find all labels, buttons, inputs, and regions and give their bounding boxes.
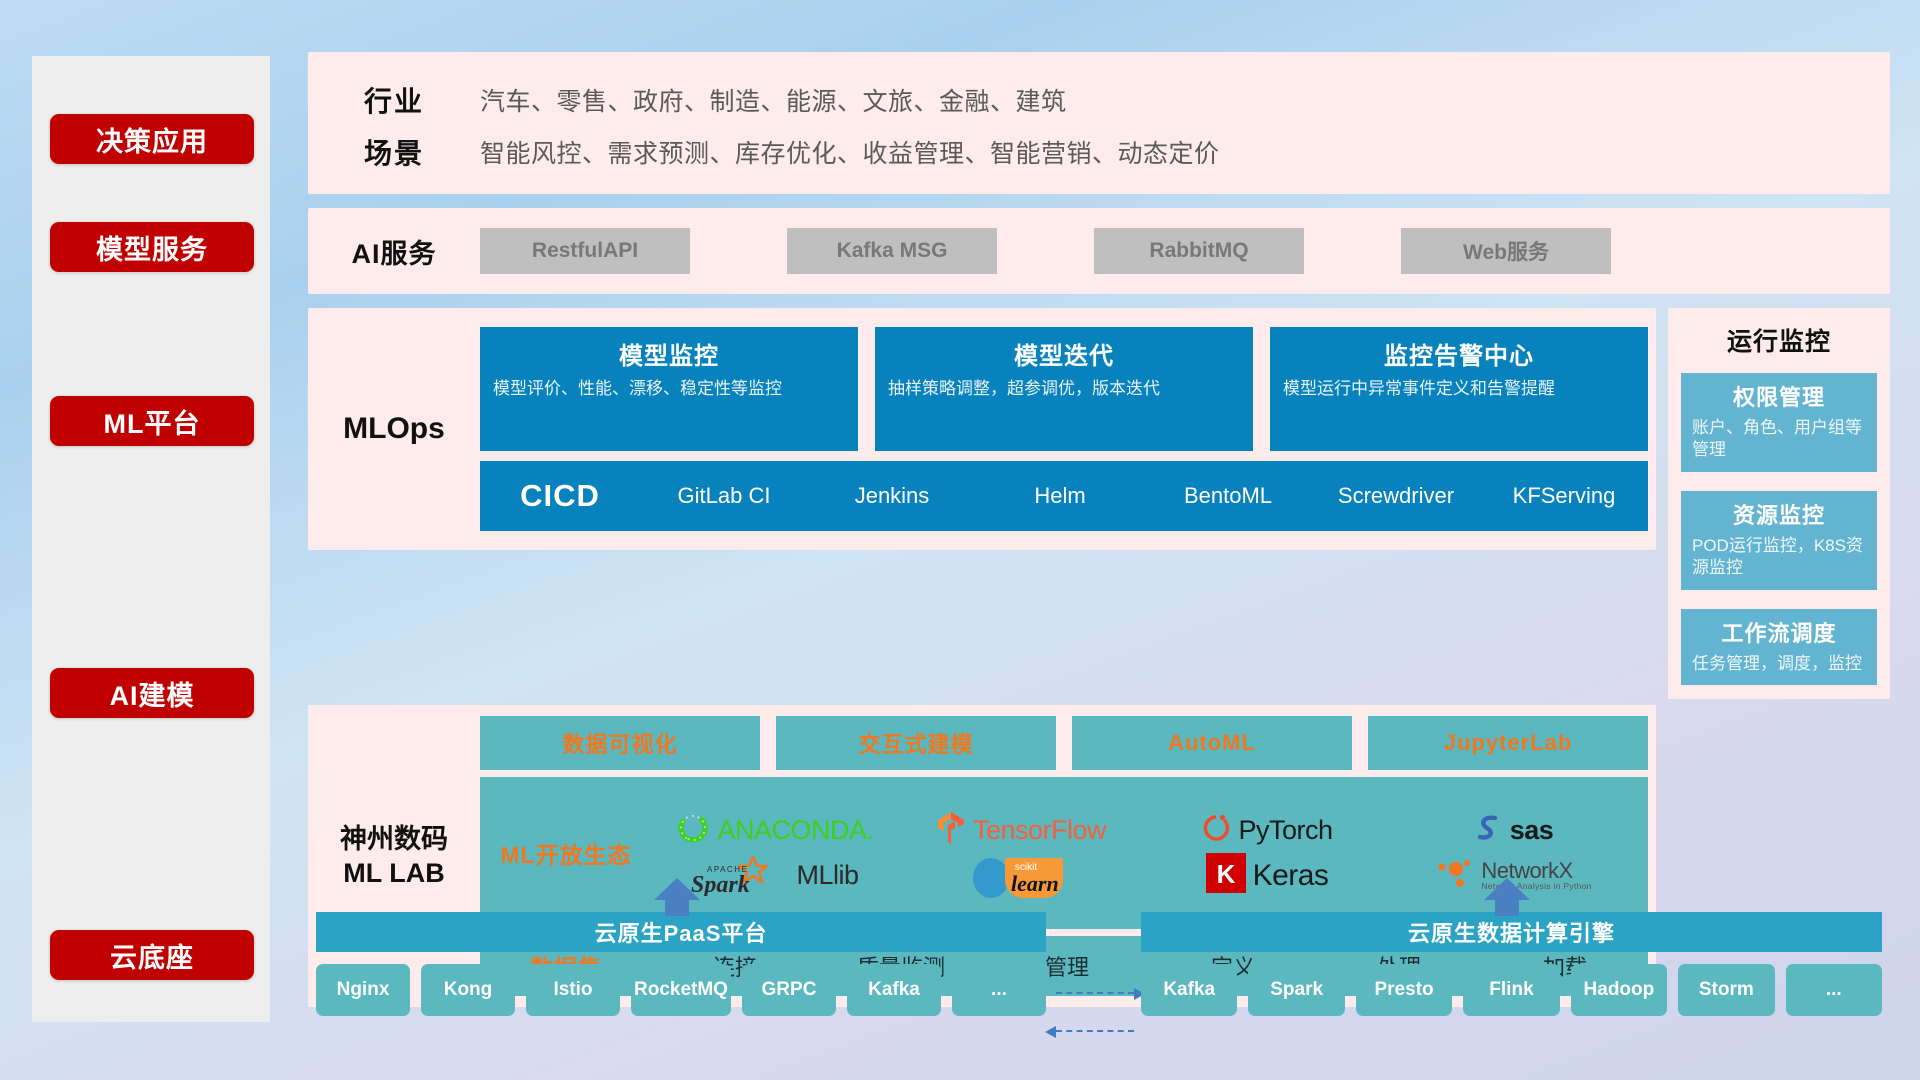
paas-chip-grpc[interactable]: GRPC	[742, 964, 836, 1016]
card-desc: 模型评价、性能、漂移、稳定性等监控	[493, 378, 845, 401]
card-desc: 账户、角色、用户组等管理	[1692, 417, 1866, 462]
ai-service-chip-web-service[interactable]: Web服务	[1401, 228, 1611, 274]
monitor-card-workflow[interactable]: 工作流调度 任务管理，调度，监控	[1681, 609, 1877, 685]
ml-lab-tab-jupyterlab[interactable]: JupyterLab	[1368, 716, 1648, 770]
runtime-monitoring-title: 运行监控	[1681, 322, 1877, 358]
ml-lab-tab-list: 数据可视化 交互式建模 AutoML JupyterLab	[480, 716, 1648, 770]
mlops-band: MLOps 模型监控 模型评价、性能、漂移、稳定性等监控 模型迭代 抽样策略调整…	[308, 308, 1656, 550]
industry-row: 行业 汽车、零售、政府、制造、能源、文旅、金融、建筑	[308, 74, 1890, 126]
card-desc: 模型运行中异常事件定义和告警提醒	[1283, 378, 1635, 401]
ai-service-chip-rabbitmq[interactable]: RabbitMQ	[1094, 228, 1304, 274]
logo-text: ANACONDA.	[717, 815, 873, 846]
ml-lab-tab-data-visualization[interactable]: 数据可视化	[480, 716, 760, 770]
logo-text: PyTorch	[1238, 815, 1332, 846]
cloud-native-paas-chip-list: Nginx Kong Istio RocketMQ GRPC Kafka ...	[316, 964, 1046, 1016]
mlops-content: 模型监控 模型评价、性能、漂移、稳定性等监控 模型迭代 抽样策略调整，超参调优，…	[480, 327, 1656, 531]
paas-chip-rocketmq[interactable]: RocketMQ	[631, 964, 731, 1016]
compute-chip-storm[interactable]: Storm	[1678, 964, 1774, 1016]
compute-chip-flink[interactable]: Flink	[1463, 964, 1559, 1016]
pytorch-icon	[1201, 811, 1231, 850]
mlops-card-alert-center[interactable]: 监控告警中心 模型运行中异常事件定义和告警提醒	[1270, 327, 1648, 451]
card-title: 资源监控	[1692, 498, 1866, 530]
logo-tensorflow[interactable]: TensorFlow	[936, 811, 1106, 850]
cicd-item-helm[interactable]: Helm	[976, 483, 1144, 508]
ai-service-label: AI服务	[308, 232, 480, 271]
ml-lab-label-line1: 神州数码	[308, 822, 480, 857]
paas-chip-kafka[interactable]: Kafka	[847, 964, 941, 1016]
rail-chip-decision-apps[interactable]: 决策应用	[50, 114, 254, 164]
logo-text: sas	[1510, 815, 1554, 846]
logo-anaconda[interactable]: ANACONDA.	[676, 811, 873, 850]
cicd-bar: CICD GitLab CI Jenkins Helm BentoML Scre…	[480, 461, 1648, 531]
dashed-arrow-right-icon	[1056, 992, 1134, 994]
decision-applications-band: 行业 汽车、零售、政府、制造、能源、文旅、金融、建筑 场景 智能风控、需求预测、…	[308, 52, 1890, 194]
sas-icon	[1473, 812, 1503, 849]
compute-chip-spark[interactable]: Spark	[1248, 964, 1344, 1016]
cicd-item-screwdriver[interactable]: Screwdriver	[1312, 483, 1480, 508]
rail-chip-cloud-base[interactable]: 云底座	[50, 930, 254, 980]
mlops-label: MLOps	[308, 412, 480, 446]
card-desc: 任务管理，调度，监控	[1692, 653, 1866, 675]
cloud-native-compute-title: 云原生数据计算引擎	[1141, 912, 1882, 952]
card-title: 模型监控	[493, 336, 845, 371]
compute-chip-presto[interactable]: Presto	[1356, 964, 1452, 1016]
mlops-card-model-iteration[interactable]: 模型迭代 抽样策略调整，超参调优，版本迭代	[875, 327, 1253, 451]
compute-chip-kafka[interactable]: Kafka	[1141, 964, 1237, 1016]
mlops-card-model-monitoring[interactable]: 模型监控 模型评价、性能、漂移、稳定性等监控	[480, 327, 858, 451]
card-desc: 抽样策略调整，超参调优，版本迭代	[888, 378, 1240, 401]
card-title: 权限管理	[1692, 380, 1866, 412]
card-title: 工作流调度	[1692, 616, 1866, 648]
tensorflow-icon	[936, 811, 966, 850]
scenario-label: 场景	[308, 132, 480, 172]
industry-label: 行业	[308, 80, 480, 120]
mlops-card-list: 模型监控 模型评价、性能、漂移、稳定性等监控 模型迭代 抽样策略调整，超参调优，…	[480, 327, 1648, 451]
cloud-native-compute-chip-list: Kafka Spark Presto Flink Hadoop Storm ..…	[1141, 964, 1882, 1016]
rail-chip-ai-modeling[interactable]: AI建模	[50, 668, 254, 718]
paas-chip-more[interactable]: ...	[952, 964, 1046, 1016]
cicd-item-bentoml[interactable]: BentoML	[1144, 483, 1312, 508]
paas-chip-nginx[interactable]: Nginx	[316, 964, 410, 1016]
logo-sas[interactable]: sas	[1473, 812, 1554, 849]
compute-chip-more[interactable]: ...	[1786, 964, 1882, 1016]
anaconda-icon	[676, 811, 710, 850]
monitor-card-resource[interactable]: 资源监控 POD运行监控，K8S资源监控	[1681, 491, 1877, 590]
ai-service-chip-list: RestfulAPI Kafka MSG RabbitMQ Web服务	[480, 228, 1890, 274]
rail-chip-ml-platform[interactable]: ML平台	[50, 396, 254, 446]
scenario-row: 场景 智能风控、需求预测、库存优化、收益管理、智能营销、动态定价	[308, 126, 1890, 178]
scenario-values: 智能风控、需求预测、库存优化、收益管理、智能营销、动态定价	[480, 134, 1220, 170]
runtime-monitoring-panel: 运行监控 权限管理 账户、角色、用户组等管理 资源监控 POD运行监控，K8S资…	[1668, 308, 1890, 699]
stack-layer-rail: 决策应用 模型服务 ML平台 AI建模 云底座	[32, 56, 270, 1022]
ai-service-band: AI服务 RestfulAPI Kafka MSG RabbitMQ Web服务	[308, 208, 1890, 294]
paas-chip-istio[interactable]: Istio	[526, 964, 620, 1016]
logo-pytorch[interactable]: PyTorch	[1201, 811, 1332, 850]
architecture-main-column: 行业 汽车、零售、政府、制造、能源、文旅、金融、建筑 场景 智能风控、需求预测、…	[308, 52, 1890, 1007]
dashed-arrow-left-icon	[1056, 1030, 1134, 1032]
card-title: 监控告警中心	[1283, 336, 1635, 371]
ml-lab-tab-automl[interactable]: AutoML	[1072, 716, 1352, 770]
cicd-title: CICD	[480, 478, 640, 514]
cloud-native-paas-title: 云原生PaaS平台	[316, 912, 1046, 952]
logo-text: TensorFlow	[973, 815, 1106, 846]
mlops-row: MLOps 模型监控 模型评价、性能、漂移、稳定性等监控 模型迭代 抽样策略调整…	[308, 308, 1890, 699]
ml-open-ecosystem-label: ML开放生态	[480, 836, 652, 870]
cicd-item-kfserving[interactable]: KFServing	[1480, 483, 1648, 508]
rail-chip-model-service[interactable]: 模型服务	[50, 222, 254, 272]
monitor-card-permission[interactable]: 权限管理 账户、角色、用户组等管理	[1681, 373, 1877, 472]
ml-lab-tab-interactive-modeling[interactable]: 交互式建模	[776, 716, 1056, 770]
cicd-item-jenkins[interactable]: Jenkins	[808, 483, 976, 508]
cloud-base-section: 云原生PaaS平台 Nginx Kong Istio RocketMQ GRPC…	[308, 880, 1890, 1040]
paas-chip-kong[interactable]: Kong	[421, 964, 515, 1016]
cloud-native-compute-group: 云原生数据计算引擎 Kafka Spark Presto Flink Hadoo…	[1141, 912, 1882, 1016]
compute-chip-hadoop[interactable]: Hadoop	[1571, 964, 1667, 1016]
ai-service-chip-restfulapi[interactable]: RestfulAPI	[480, 228, 690, 274]
ai-service-chip-kafka-msg[interactable]: Kafka MSG	[787, 228, 997, 274]
industry-values: 汽车、零售、政府、制造、能源、文旅、金融、建筑	[480, 82, 1067, 118]
card-desc: POD运行监控，K8S资源监控	[1692, 535, 1866, 580]
cloud-native-paas-group: 云原生PaaS平台 Nginx Kong Istio RocketMQ GRPC…	[316, 912, 1046, 1016]
cicd-item-gitlab-ci[interactable]: GitLab CI	[640, 483, 808, 508]
card-title: 模型迭代	[888, 336, 1240, 371]
